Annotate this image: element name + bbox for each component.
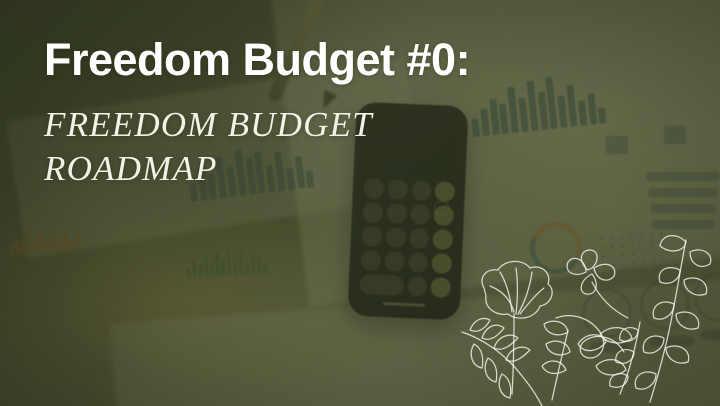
title-block: Freedom Budget #0: Freedom Budget Roadma… xyxy=(44,36,564,192)
slide-subtitle: Freedom Budget Roadmap xyxy=(44,103,374,193)
slide-title: Freedom Budget #0: xyxy=(44,36,564,85)
presentation-slide: Freedom Budget #0: Freedom Budget Roadma… xyxy=(0,0,720,406)
